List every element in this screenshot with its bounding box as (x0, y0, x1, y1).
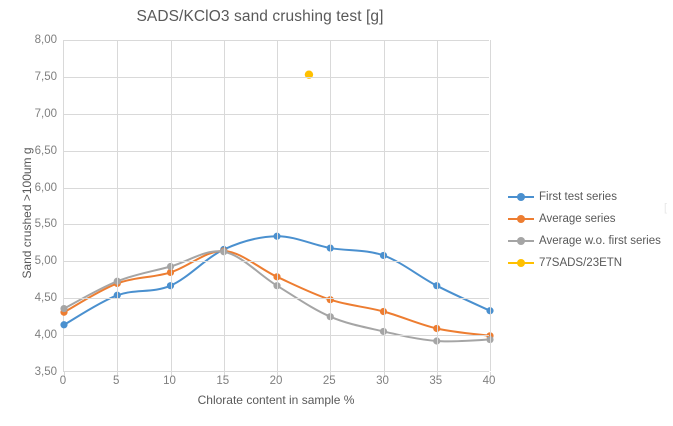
legend-marker-icon (508, 235, 534, 247)
data-point (60, 305, 67, 312)
x-axis-tick-label: 10 (163, 375, 176, 387)
gridline-vertical (224, 40, 225, 371)
chart-container: SADS/KClO3 sand crushing test [g] 3,504,… (0, 0, 673, 426)
legend-item[interactable]: Average series (508, 208, 673, 230)
x-axis-tick-label: 15 (216, 375, 229, 387)
legend-label: First test series (539, 191, 617, 203)
legend-marker-icon (508, 191, 534, 203)
y-axis-title: Sand crushed >100um g (20, 108, 34, 318)
gridline-vertical (171, 40, 172, 371)
legend-item[interactable]: First test series (508, 186, 673, 208)
x-axis-tick-label: 40 (483, 375, 496, 387)
x-axis-tick-label: 5 (113, 375, 119, 387)
x-axis-tick-label: 30 (376, 375, 389, 387)
legend-label: Average series (539, 213, 616, 225)
legend-marker-icon (508, 257, 534, 269)
y-axis-tick-label: 6,50 (35, 145, 57, 157)
x-axis-tick-label: 35 (429, 375, 442, 387)
gridline-vertical (117, 40, 118, 371)
y-axis-tick-label: 6,00 (35, 182, 57, 194)
y-axis-tick-label: 5,00 (35, 255, 57, 267)
x-axis-tick-labels: 0510152025303540 (63, 375, 489, 391)
legend-dot-swatch (517, 237, 525, 245)
legend-marker-icon (508, 213, 534, 225)
legend-item[interactable]: Average w.o. first series (508, 230, 673, 252)
x-axis-title: Chlorate content in sample % (63, 393, 489, 407)
x-axis-tick-label: 0 (60, 375, 66, 387)
legend-item[interactable]: 77SADS/23ETN (508, 252, 673, 274)
plot-area (63, 40, 489, 372)
x-axis-tick-label: 20 (270, 375, 283, 387)
y-axis-tick-label: 7,50 (35, 71, 57, 83)
legend-dot-swatch (517, 193, 525, 201)
chart-title: SADS/KClO3 sand crushing test [g] (0, 8, 520, 26)
gridline-vertical (437, 40, 438, 371)
y-axis-tick-label: 7,00 (35, 108, 57, 120)
y-axis-tick-label: 3,50 (35, 366, 57, 378)
legend-label: 77SADS/23ETN (539, 257, 622, 269)
y-axis-tick-label: 5,50 (35, 218, 57, 230)
legend-dot-swatch (517, 259, 525, 267)
data-point (60, 321, 67, 328)
y-axis-tick-label: 4,50 (35, 292, 57, 304)
y-axis-tick-label: 4,00 (35, 329, 57, 341)
gridline-vertical (490, 40, 491, 371)
edge-artifact: [ (664, 202, 667, 214)
chart-legend: First test seriesAverage seriesAverage w… (508, 186, 673, 274)
x-axis-tick-label: 25 (323, 375, 336, 387)
gridline-vertical (330, 40, 331, 371)
legend-label: Average w.o. first series (539, 235, 661, 247)
gridline-vertical (384, 40, 385, 371)
y-axis-tick-label: 8,00 (35, 34, 57, 46)
legend-dot-swatch (517, 215, 525, 223)
gridline-vertical (277, 40, 278, 371)
